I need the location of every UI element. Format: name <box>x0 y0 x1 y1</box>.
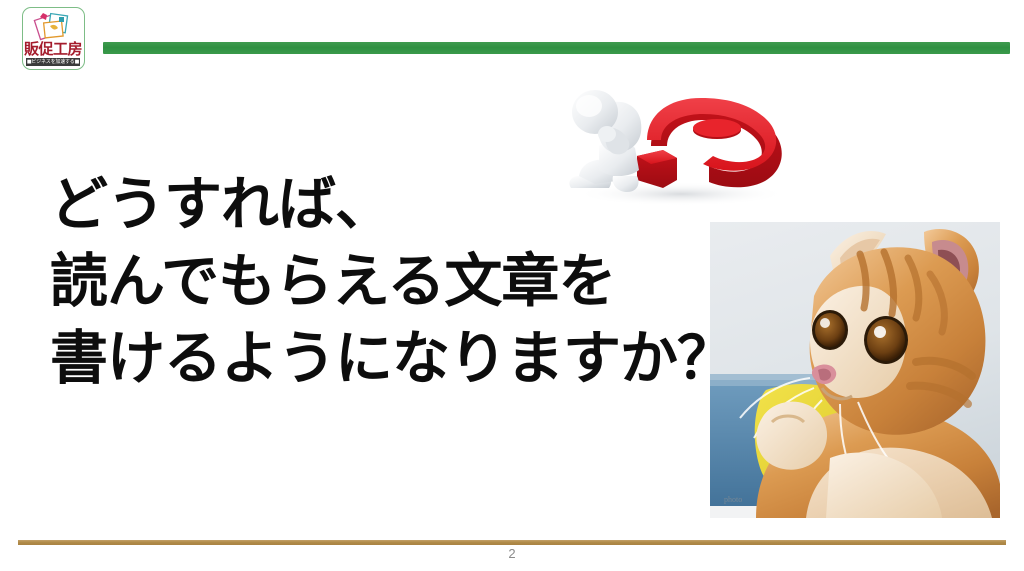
logo-artwork-icon <box>23 11 83 43</box>
company-logo[interactable]: 販促工房 ■ビジネスを加速する■ <box>22 7 85 70</box>
header-green-band <box>103 42 1010 54</box>
logo-wordmark: 販促工房 <box>23 41 83 57</box>
thinking-person-question-mark-image <box>551 84 791 206</box>
svg-text:photo: photo <box>724 495 742 504</box>
headline-line-2: 読んでもらえる文章を <box>50 243 710 320</box>
logo-tagline: ■ビジネスを加速する■ <box>26 58 80 66</box>
page-number: 2 <box>0 546 1024 561</box>
headline-line-3: 書けるようになりますか？ <box>50 320 710 397</box>
footer-gold-rule <box>18 540 1006 545</box>
slide-canvas: 販促工房 ■ビジネスを加速する■ どうすれば、 読んでもらえる文章を 書けるよう… <box>0 0 1024 571</box>
kitten-photo: photo <box>710 222 1000 518</box>
